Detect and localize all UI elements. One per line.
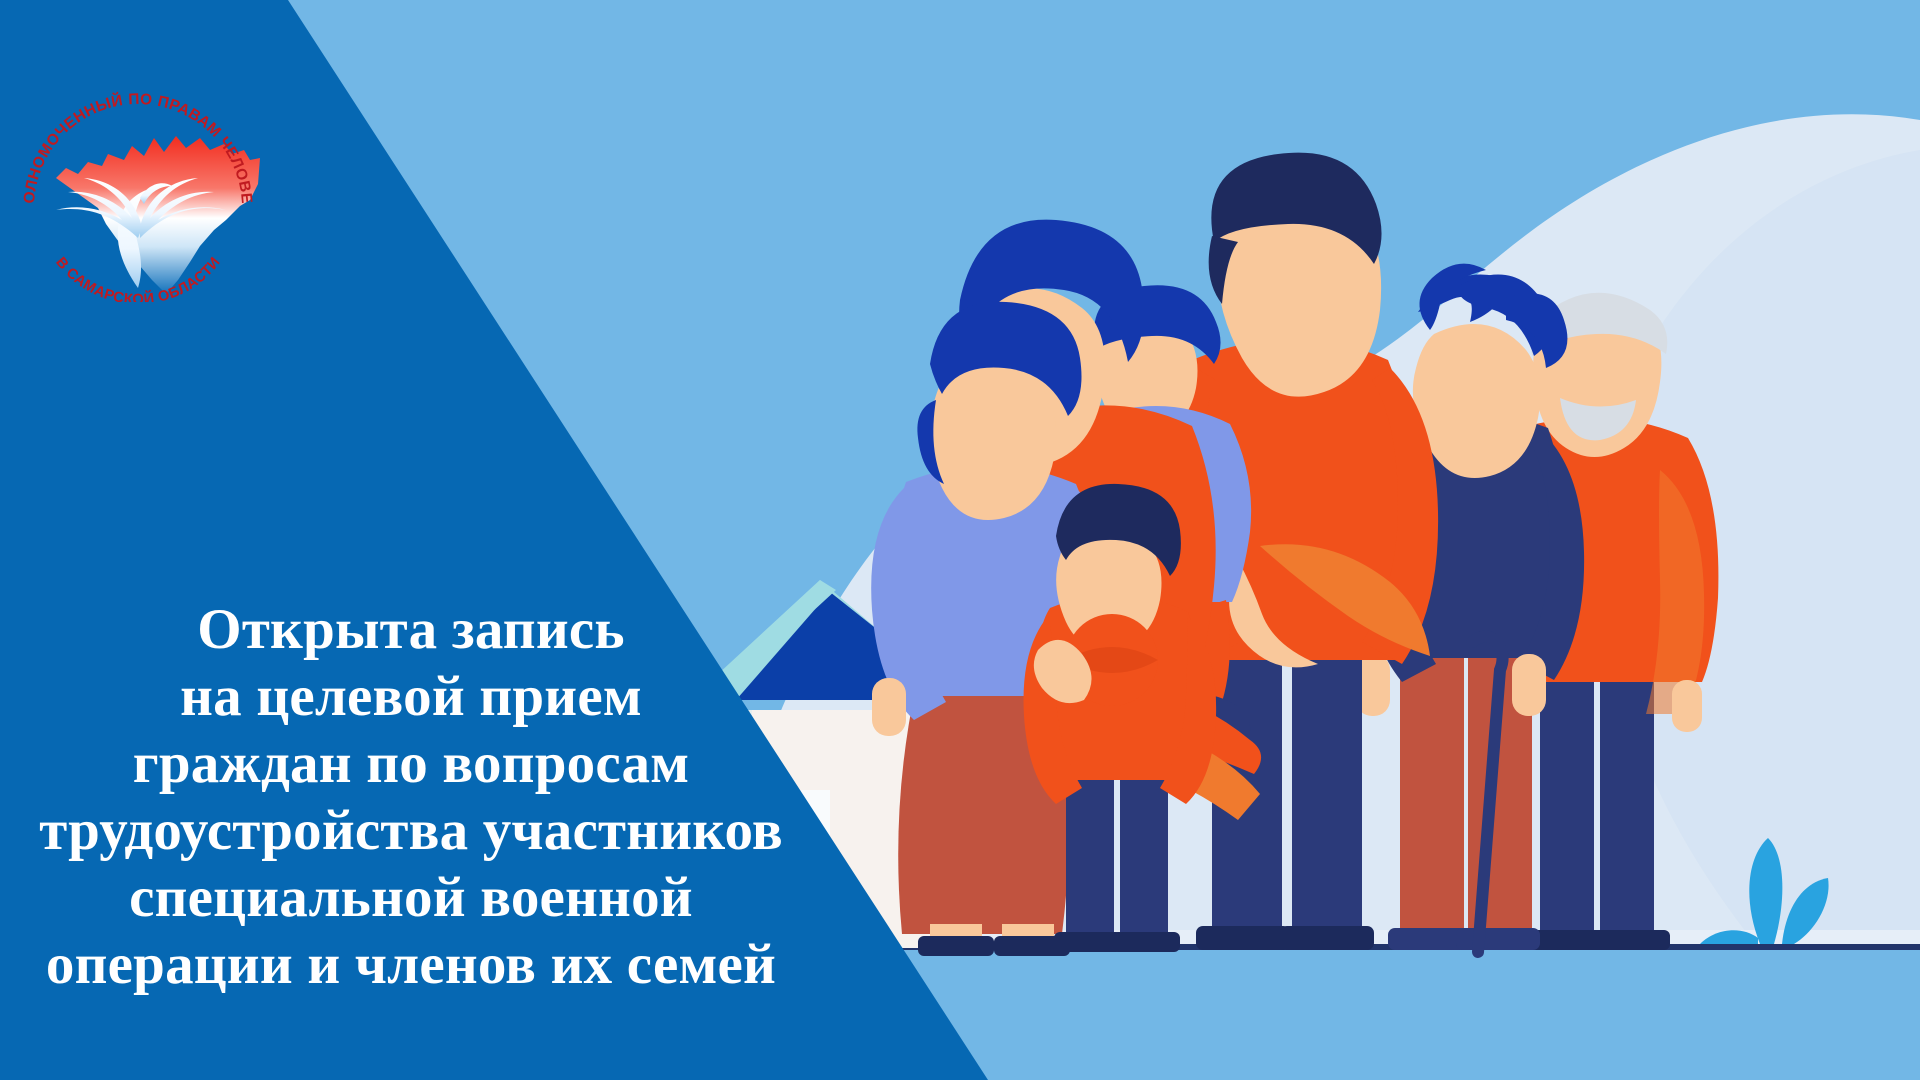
headline-line-2: на целевой прием: [0, 663, 822, 730]
headline-line-3: граждан по вопросам: [0, 730, 822, 797]
headline-line-5: специальной военной: [0, 864, 822, 931]
poster-canvas: УПОЛНОМОЧЕННЫЙ ПО ПРАВАМ ЧЕЛОВЕКА В САМА…: [0, 0, 1920, 1080]
headline-line-4: трудоустройства участников: [0, 797, 822, 864]
ombudsman-logo: УПОЛНОМОЧЕННЫЙ ПО ПРАВАМ ЧЕЛОВЕКА В САМА…: [12, 62, 264, 302]
headline-line-1: Открыта запись: [0, 596, 822, 663]
headline-text: Открыта запись на целевой прием граждан …: [0, 596, 822, 998]
headline-line-6: операции и членов их семей: [0, 931, 822, 998]
